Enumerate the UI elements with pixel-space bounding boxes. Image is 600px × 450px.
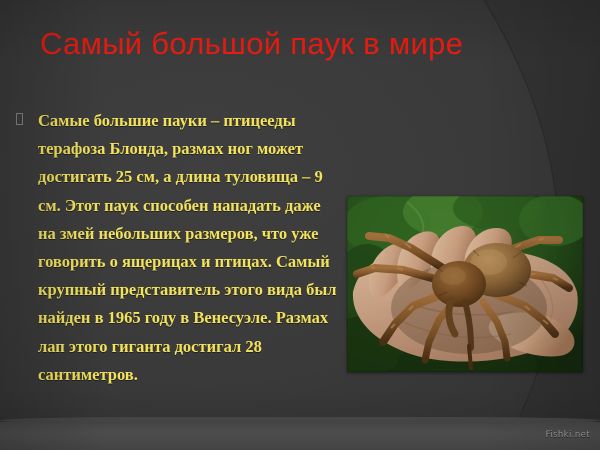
spider-photo [347,196,583,372]
bottom-accent-band [0,422,600,450]
bullet-list-item: Самые большие пауки – птицееды терафоза … [16,107,342,389]
presentation-slide: Самый большой паук в мире Самые большие … [0,0,600,450]
body-paragraph: Самые большие пауки – птицееды терафоза … [38,107,342,389]
square-bullet-icon [16,107,38,128]
spider-photo-artwork [347,196,583,372]
watermark-label: Fishki.net [546,430,590,440]
page-title: Самый большой паук в мире [40,22,510,66]
